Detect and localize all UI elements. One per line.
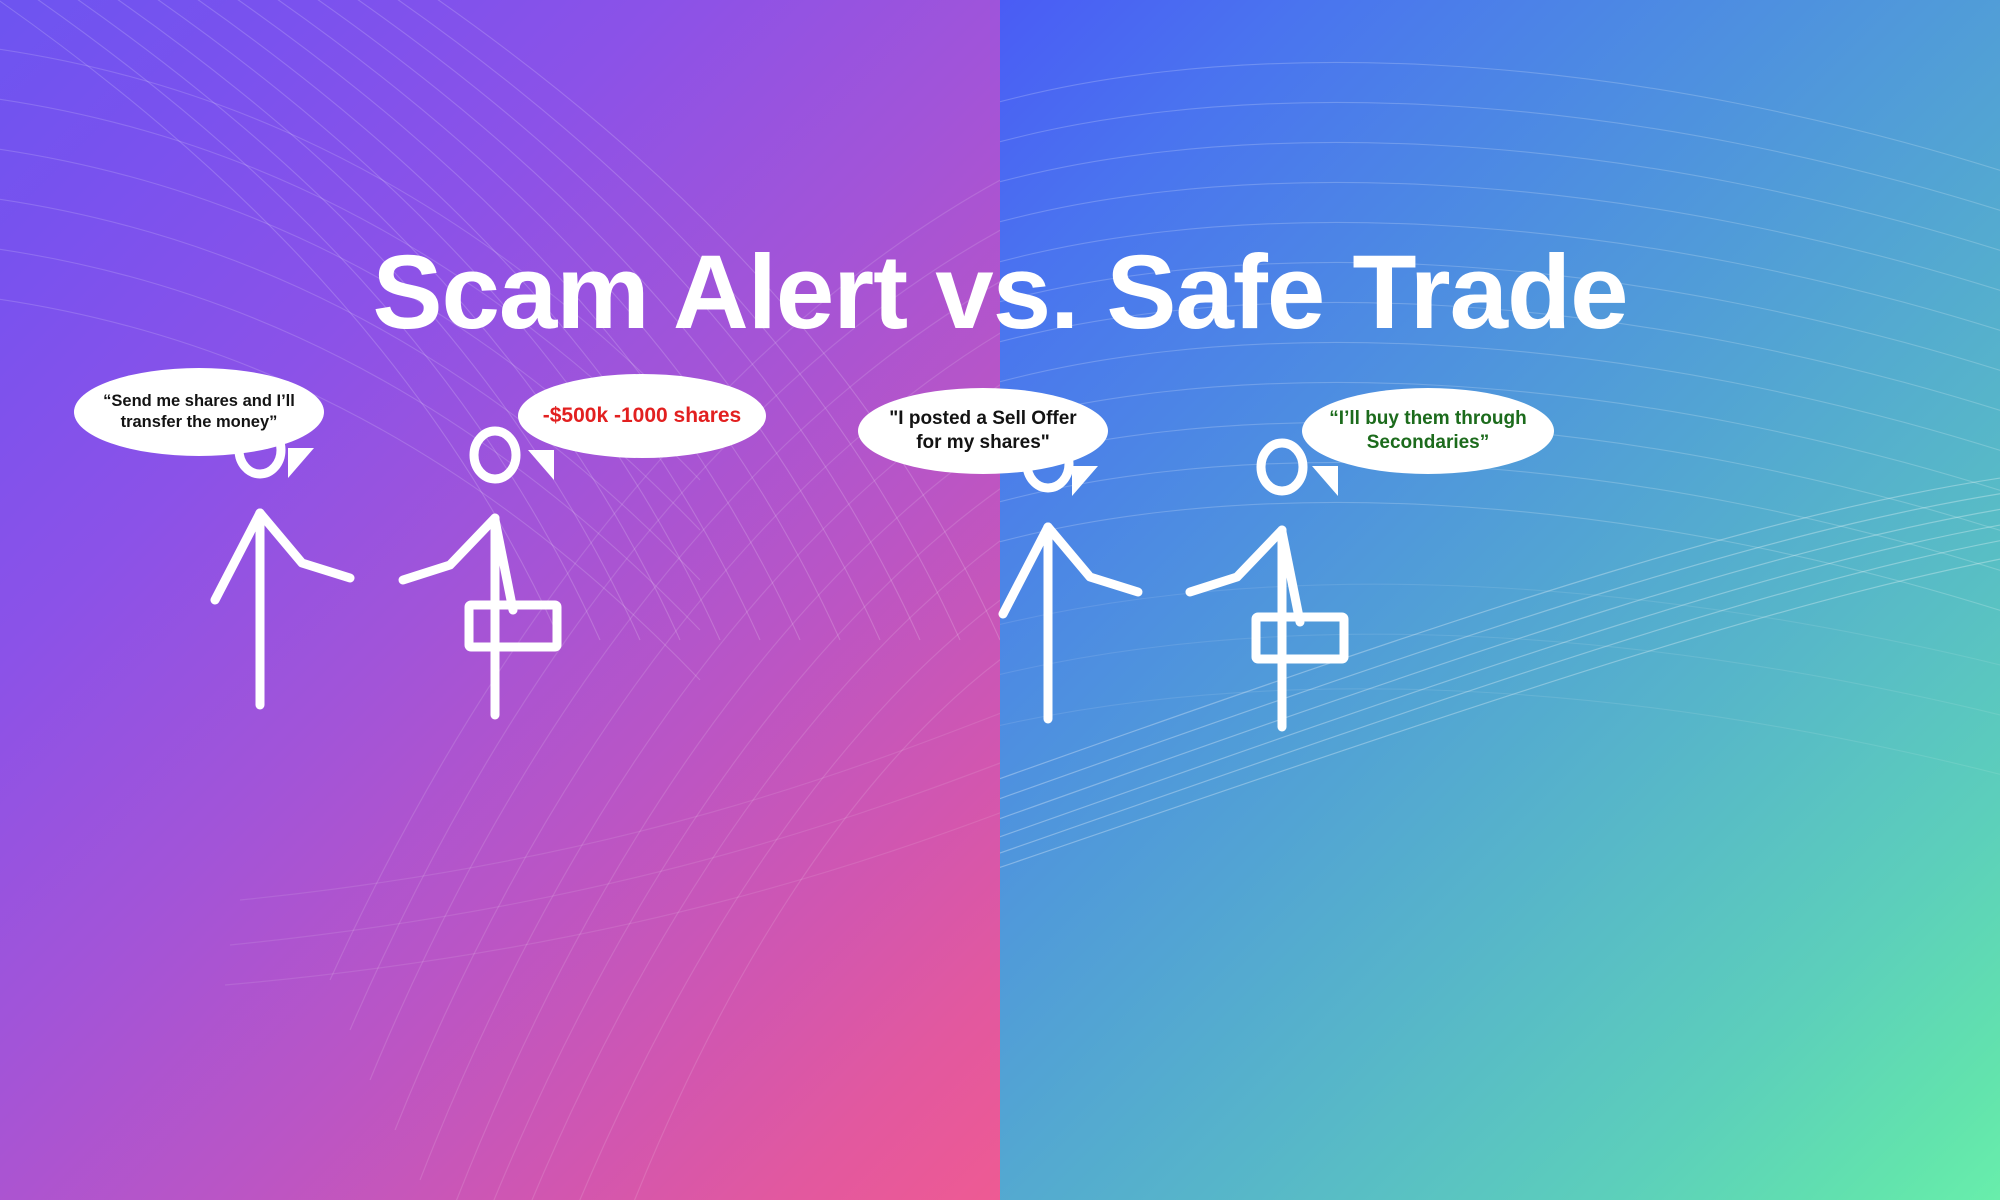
safe-panel-background — [1000, 0, 2000, 1200]
speech-bubble-tail — [288, 448, 314, 478]
speech-bubble-text: "I posted a Sell Offer for my shares" — [874, 407, 1092, 456]
speech-bubble-tail — [1312, 466, 1338, 496]
speech-bubble-text: -$500k -1000 shares — [534, 403, 750, 430]
safe-panel — [1000, 0, 2000, 1200]
speech-bubble-scam-loss: -$500k -1000 shares — [518, 374, 766, 458]
speech-bubble-text: “I’ll buy them through Secondaries” — [1318, 407, 1538, 456]
page-title: Scam Alert vs. Safe Trade — [0, 240, 2000, 345]
speech-bubble-scammer: “Send me shares and I’ll transfer the mo… — [74, 368, 324, 456]
speech-bubble-seller: "I posted a Sell Offer for my shares" — [858, 388, 1108, 474]
scam-panel — [0, 0, 1000, 1200]
scam-panel-background — [0, 0, 1000, 1200]
infographic-canvas: Scam Alert vs. Safe Trade — [0, 0, 2000, 1200]
speech-bubble-tail — [528, 450, 554, 480]
speech-bubble-buyer: “I’ll buy them through Secondaries” — [1302, 388, 1554, 474]
speech-bubble-text: “Send me shares and I’ll transfer the mo… — [90, 391, 308, 433]
speech-bubble-tail — [1072, 466, 1098, 496]
